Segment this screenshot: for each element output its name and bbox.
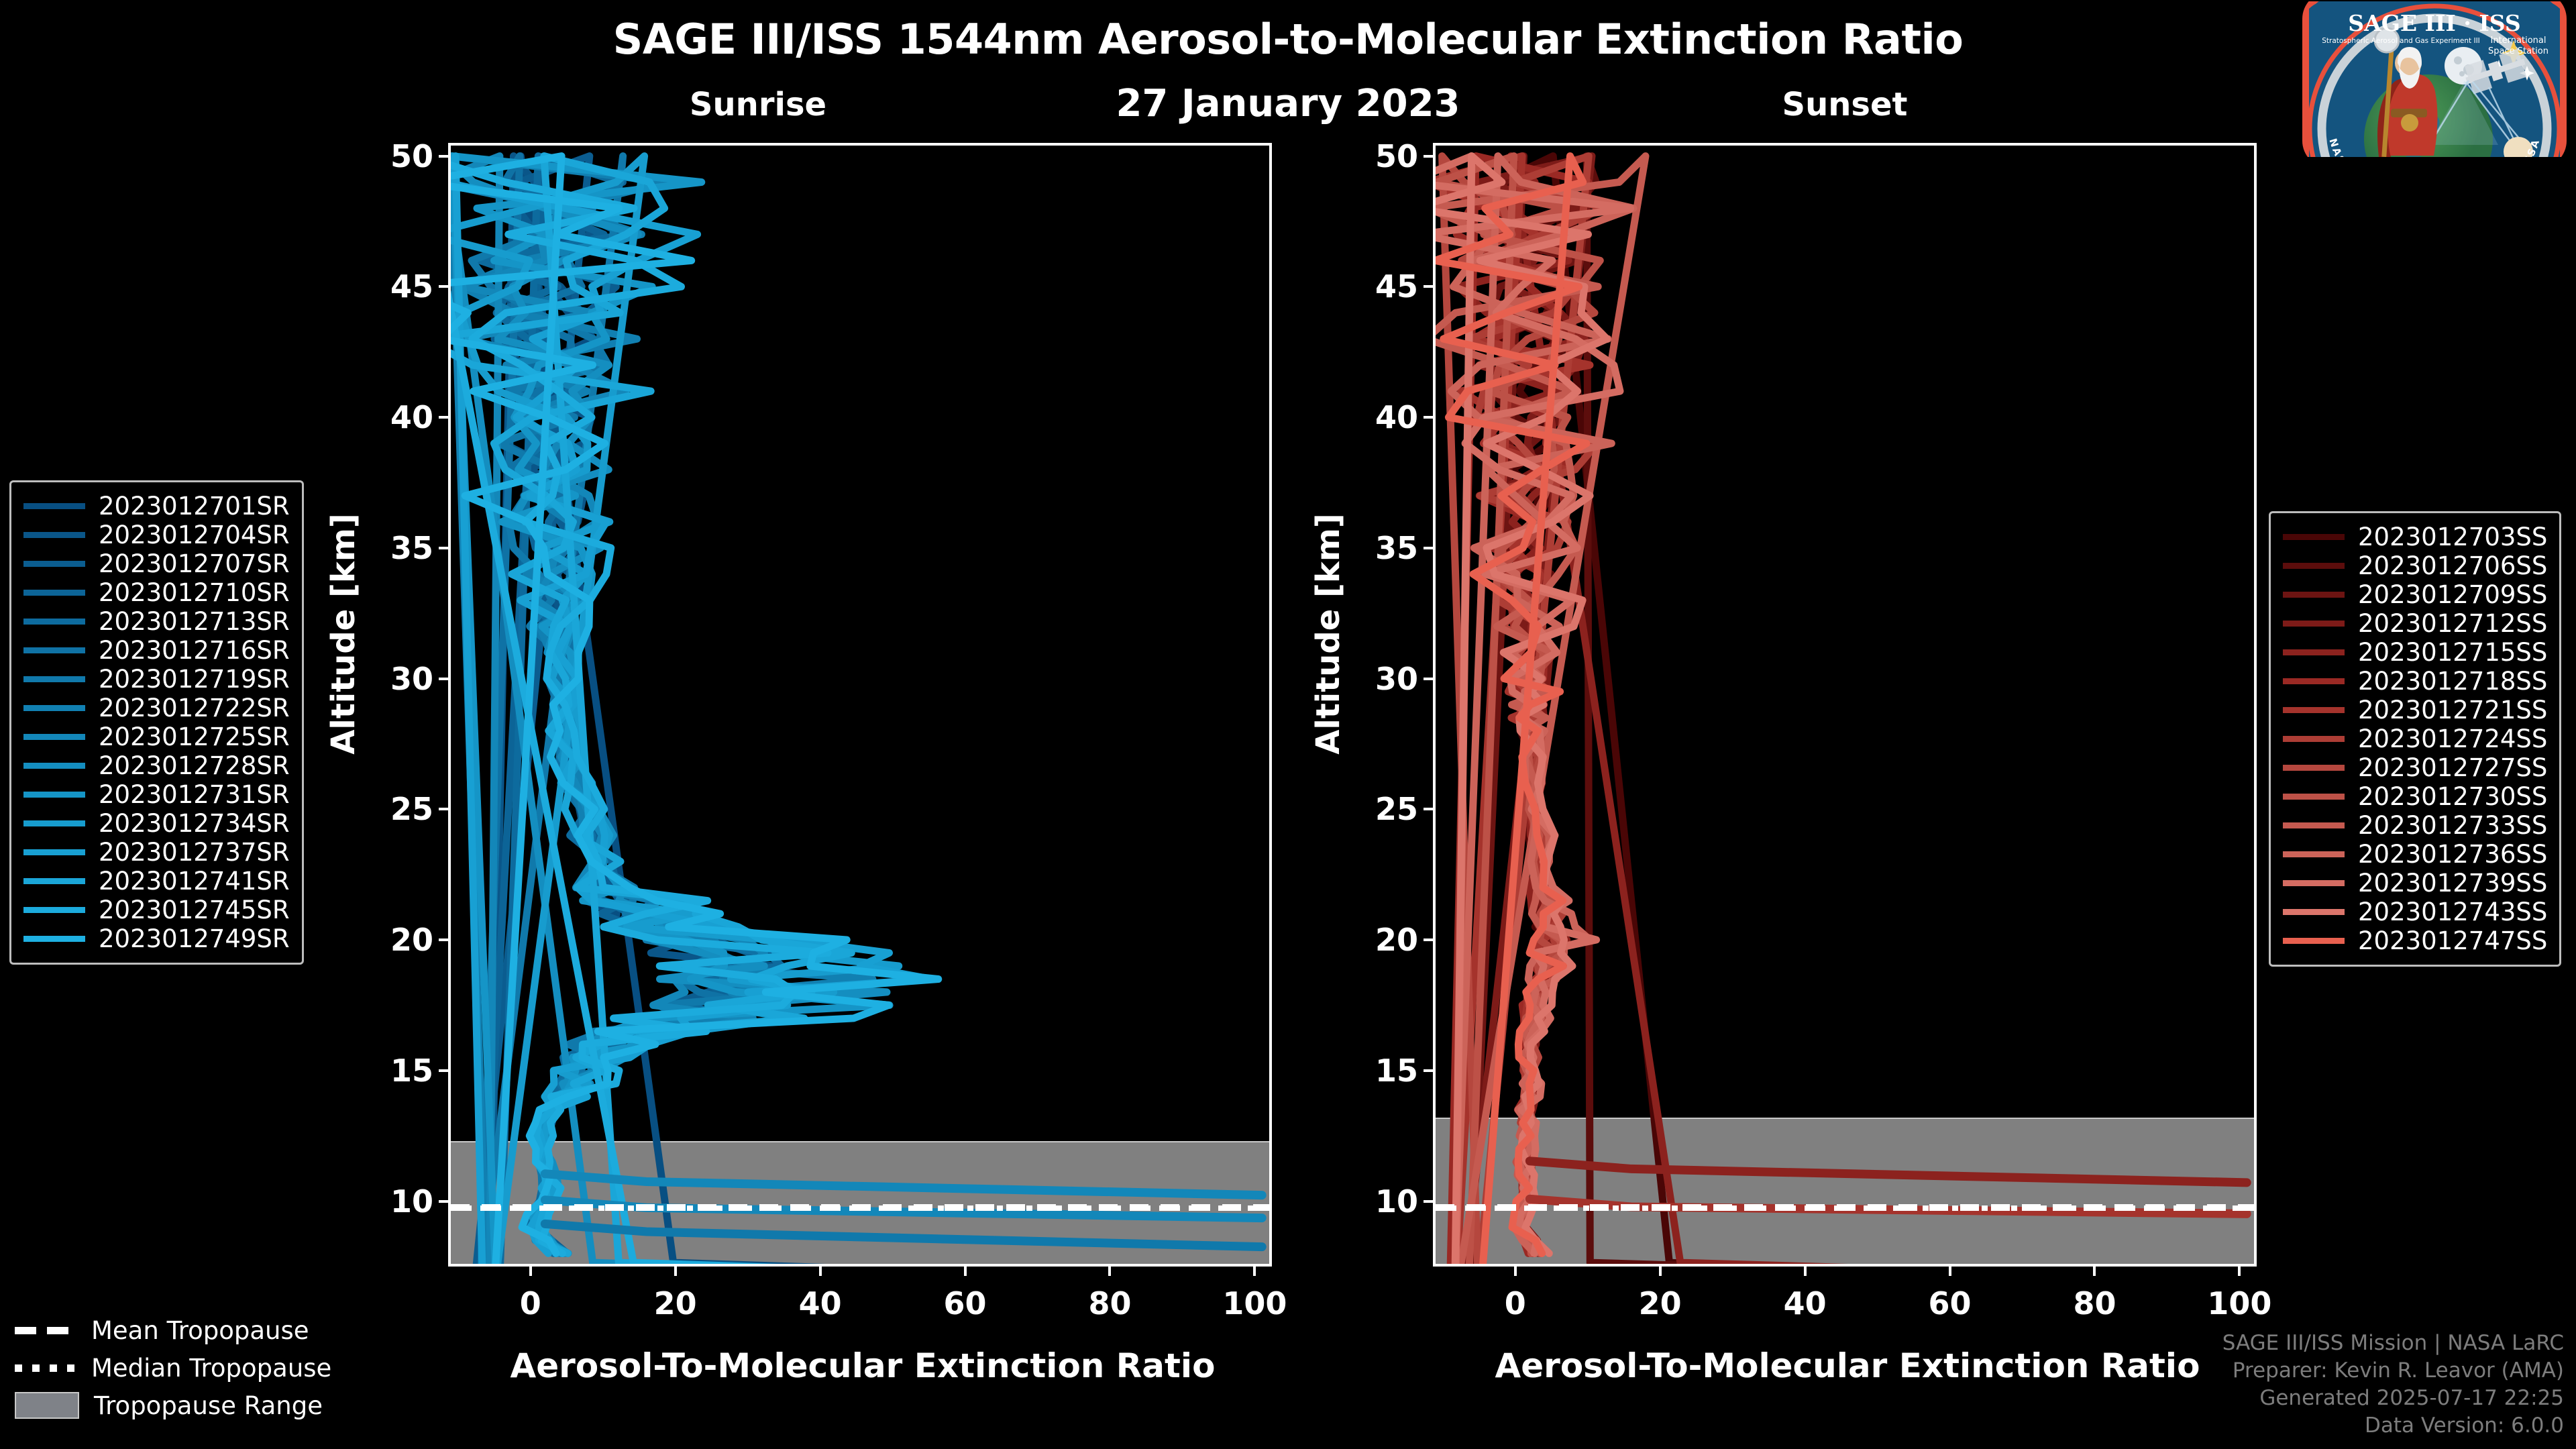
legend-color-swatch xyxy=(23,561,85,567)
legend-item-label: 2023012739SS xyxy=(2358,869,2547,898)
plot-sunrise: Altitude [km] Aerosol-To-Molecular Extin… xyxy=(448,143,1272,1267)
x-axis-tick-mark xyxy=(529,1264,532,1276)
legend-color-swatch xyxy=(2283,909,2345,915)
legend-sunrise[interactable]: 2023012701SR2023012704SR2023012707SR2023… xyxy=(9,480,304,965)
legend-item[interactable]: 2023012721SS xyxy=(2283,696,2547,724)
legend-item[interactable]: 2023012719SR xyxy=(23,665,290,694)
legend-item-median-tropopause: Median Tropopause xyxy=(15,1349,331,1387)
page-title: SAGE III/ISS 1544nm Aerosol-to-Molecular… xyxy=(0,15,2576,64)
legend-color-swatch xyxy=(2283,765,2345,771)
dashed-line-icon xyxy=(15,1327,76,1334)
legend-item[interactable]: 2023012716SR xyxy=(23,636,290,665)
legend-item-label: 2023012734SR xyxy=(99,809,290,838)
legend-item-label: 2023012716SR xyxy=(99,636,290,665)
y-axis-tick-label: 45 xyxy=(339,268,451,305)
plot-area-sunset xyxy=(1436,146,2254,1264)
y-axis-tick-mark xyxy=(1424,1069,1436,1072)
legend-item[interactable]: 2023012703SS xyxy=(2283,523,2547,551)
legend-color-swatch xyxy=(2283,649,2345,655)
y-axis-tick-mark xyxy=(1424,285,1436,288)
y-axis-tick-label: 40 xyxy=(339,399,451,435)
legend-item-label: 2023012725SR xyxy=(99,722,290,751)
legend-color-swatch xyxy=(2283,621,2345,627)
x-axis-tick-mark xyxy=(1253,1264,1256,1276)
legend-color-swatch xyxy=(23,503,85,509)
legend-item[interactable]: 2023012704SR xyxy=(23,521,290,549)
legend-item[interactable]: 2023012713SR xyxy=(23,607,290,636)
y-axis-tick-label: 30 xyxy=(339,661,451,697)
legend-item[interactable]: 2023012741SR xyxy=(23,867,290,896)
legend-item-label: 2023012736SS xyxy=(2358,840,2547,869)
legend-color-swatch xyxy=(23,763,85,769)
legend-item-label: 2023012704SR xyxy=(99,521,290,549)
y-axis-tick-label: 10 xyxy=(339,1183,451,1220)
legend-color-swatch xyxy=(23,878,85,884)
legend-item-label: 2023012719SR xyxy=(99,665,290,694)
legend-item[interactable]: 2023012730SS xyxy=(2283,782,2547,811)
logo-title: SAGE III · ISS xyxy=(2348,10,2520,36)
legend-sunset[interactable]: 2023012703SS2023012706SS2023012709SS2023… xyxy=(2269,511,2561,967)
credits-line-version: Data Version: 6.0.0 xyxy=(2222,1412,2564,1440)
x-axis-tick-mark xyxy=(2093,1264,2096,1276)
legend-color-swatch xyxy=(23,705,85,711)
y-axis-tick-label: 35 xyxy=(339,530,451,566)
legend-item[interactable]: 2023012727SS xyxy=(2283,753,2547,782)
legend-item-label: 2023012731SR xyxy=(99,780,290,809)
legend-item[interactable]: 2023012739SS xyxy=(2283,869,2547,898)
plot-area-sunrise xyxy=(451,146,1269,1264)
credits-line-mission: SAGE III/ISS Mission | NASA LaRC xyxy=(2222,1330,2564,1357)
offscale-streak xyxy=(545,1224,1262,1246)
legend-item[interactable]: 2023012707SR xyxy=(23,549,290,578)
y-axis-tick-mark xyxy=(439,678,451,680)
legend-item[interactable]: 2023012718SS xyxy=(2283,667,2547,696)
legend-item[interactable]: 2023012728SR xyxy=(23,751,290,780)
plot-sunset: Altitude [km] Aerosol-To-Molecular Extin… xyxy=(1433,143,2257,1267)
y-axis-tick-mark xyxy=(1424,547,1436,549)
legend-item[interactable]: 2023012736SS xyxy=(2283,840,2547,869)
y-axis-tick-label: 15 xyxy=(1324,1053,1436,1089)
legend-color-swatch xyxy=(23,820,85,826)
legend-item[interactable]: 2023012722SR xyxy=(23,694,290,722)
legend-item-label: 2023012707SR xyxy=(99,549,290,578)
legend-item[interactable]: 2023012712SS xyxy=(2283,609,2547,638)
y-axis-tick-label: 40 xyxy=(1324,399,1436,435)
y-axis-tick-label: 45 xyxy=(1324,268,1436,305)
legend-color-swatch xyxy=(23,532,85,538)
legend-color-swatch xyxy=(23,936,85,942)
y-axis-tick-mark xyxy=(439,1069,451,1072)
legend-item-label: 2023012706SS xyxy=(2358,551,2547,580)
legend-item[interactable]: 2023012745SR xyxy=(23,896,290,924)
legend-color-swatch xyxy=(23,792,85,798)
offscale-streak xyxy=(1529,1161,2247,1183)
legend-item-label: 2023012718SS xyxy=(2358,667,2547,696)
y-axis-tick-label: 10 xyxy=(1324,1183,1436,1220)
legend-color-swatch xyxy=(2283,678,2345,684)
legend-item[interactable]: 2023012747SS xyxy=(2283,926,2547,955)
legend-label-tropopause-range: Tropopause Range xyxy=(94,1391,323,1420)
date-title: 27 January 2023 xyxy=(0,82,2576,125)
legend-color-swatch xyxy=(2283,822,2345,828)
legend-item-label: 2023012728SR xyxy=(99,751,290,780)
profile-line xyxy=(521,156,1262,1264)
legend-item-label: 2023012733SS xyxy=(2358,811,2547,840)
legend-item[interactable]: 2023012737SR xyxy=(23,838,290,867)
x-axis-tick-mark xyxy=(1514,1264,1517,1276)
credits-line-generated: Generated 2025-07-17 22:25 xyxy=(2222,1385,2564,1412)
legend-color-swatch xyxy=(23,590,85,596)
legend-item-label: 2023012743SS xyxy=(2358,898,2547,926)
y-axis-tick-label: 20 xyxy=(339,922,451,958)
legend-item-label: 2023012724SS xyxy=(2358,724,2547,753)
profile-curves xyxy=(1436,146,2254,1264)
legend-item[interactable]: 2023012749SR xyxy=(23,924,290,953)
x-axis-tick-mark xyxy=(674,1264,677,1276)
y-axis-tick-mark xyxy=(439,285,451,288)
legend-item[interactable]: 2023012733SS xyxy=(2283,811,2547,840)
legend-item[interactable]: 2023012724SS xyxy=(2283,724,2547,753)
y-axis-tick-mark xyxy=(439,938,451,941)
legend-item-label: 2023012747SS xyxy=(2358,926,2547,955)
legend-item-label: 2023012730SS xyxy=(2358,782,2547,811)
legend-item-mean-tropopause: Mean Tropopause xyxy=(15,1311,331,1349)
y-axis-tick-label: 30 xyxy=(1324,661,1436,697)
y-axis-tick-label: 25 xyxy=(1324,791,1436,827)
legend-color-swatch xyxy=(2283,736,2345,742)
credits-line-preparer: Preparer: Kevin R. Leavor (AMA) xyxy=(2222,1357,2564,1385)
legend-item[interactable]: 2023012715SS xyxy=(2283,638,2547,667)
y-axis-tick-mark xyxy=(1424,938,1436,941)
legend-item-label: 2023012745SR xyxy=(99,896,290,924)
legend-label-median-tropopause: Median Tropopause xyxy=(91,1354,331,1383)
legend-item-label: 2023012741SR xyxy=(99,867,290,896)
filled-band-icon xyxy=(15,1392,79,1419)
legend-tropopause: Mean Tropopause Median Tropopause Tropop… xyxy=(15,1311,331,1424)
legend-item-label: 2023012710SR xyxy=(99,578,290,607)
legend-item-label: 2023012713SR xyxy=(99,607,290,636)
legend-item-label: 2023012712SS xyxy=(2358,609,2547,638)
legend-color-swatch xyxy=(23,619,85,625)
legend-item-label: 2023012715SS xyxy=(2358,638,2547,667)
legend-color-swatch xyxy=(2283,534,2345,540)
x-axis-tick-mark xyxy=(1949,1264,1951,1276)
offscale-streak xyxy=(545,1174,1262,1195)
y-axis-tick-mark xyxy=(439,155,451,158)
y-axis-tick-mark xyxy=(1424,1200,1436,1203)
legend-color-swatch xyxy=(2283,851,2345,857)
panel-title-sunset: Sunset xyxy=(1711,86,1979,123)
profile-line xyxy=(1489,156,2247,1264)
y-axis-tick-label: 50 xyxy=(339,138,451,174)
legend-item-label: 2023012749SR xyxy=(99,924,290,953)
legend-color-swatch xyxy=(23,907,85,913)
legend-color-swatch xyxy=(2283,707,2345,713)
y-axis-tick-mark xyxy=(439,1200,451,1203)
legend-color-swatch xyxy=(2283,880,2345,886)
sage3-iss-mission-patch-logo: SAGE III · ISS Stratospheric Aerosol and… xyxy=(2297,1,2572,157)
dotted-line-icon xyxy=(15,1364,76,1372)
legend-item[interactable]: 2023012701SR xyxy=(23,492,290,521)
legend-color-swatch xyxy=(23,849,85,855)
legend-color-swatch xyxy=(23,676,85,682)
legend-color-swatch xyxy=(2283,592,2345,598)
y-axis-tick-mark xyxy=(1424,678,1436,680)
legend-item[interactable]: 2023012725SR xyxy=(23,722,290,751)
logo-subtitle-right-1: International xyxy=(2491,36,2546,46)
legend-item[interactable]: 2023012743SS xyxy=(2283,898,2547,926)
legend-item-label: 2023012722SR xyxy=(99,694,290,722)
x-axis-tick-mark xyxy=(2238,1264,2241,1276)
legend-item[interactable]: 2023012709SS xyxy=(2283,580,2547,609)
y-axis-tick-mark xyxy=(1424,416,1436,419)
profile-curves xyxy=(451,146,1269,1264)
y-axis-tick-label: 15 xyxy=(339,1053,451,1089)
legend-item-tropopause-range: Tropopause Range xyxy=(15,1387,331,1424)
y-axis-tick-mark xyxy=(439,547,451,549)
y-axis-tick-label: 20 xyxy=(1324,922,1436,958)
y-axis-tick-label: 25 xyxy=(339,791,451,827)
legend-item-label: 2023012721SS xyxy=(2358,696,2547,724)
y-axis-tick-mark xyxy=(1424,155,1436,158)
x-axis-label-sunrise: Aerosol-To-Molecular Extinction Ratio xyxy=(451,1346,1275,1385)
legend-color-swatch xyxy=(2283,794,2345,800)
y-axis-tick-mark xyxy=(439,808,451,810)
median-tropopause-line xyxy=(1436,1205,2254,1211)
y-axis-tick-mark xyxy=(439,416,451,419)
x-axis-tick-mark xyxy=(819,1264,822,1276)
legend-color-swatch xyxy=(2283,563,2345,569)
legend-color-swatch xyxy=(23,734,85,740)
logo-subtitle-right-2: Space Station xyxy=(2488,46,2548,56)
legend-item[interactable]: 2023012731SR xyxy=(23,780,290,809)
logo-subtitle-left: Stratospheric Aerosol and Gas Experiment… xyxy=(2322,37,2480,45)
x-axis-tick-mark xyxy=(1804,1264,1807,1276)
x-axis-tick-mark xyxy=(1108,1264,1111,1276)
legend-item[interactable]: 2023012734SR xyxy=(23,809,290,838)
legend-item-label: 2023012737SR xyxy=(99,838,290,867)
y-axis-tick-label: 35 xyxy=(1324,530,1436,566)
legend-item[interactable]: 2023012706SS xyxy=(2283,551,2547,580)
x-axis-label-sunset: Aerosol-To-Molecular Extinction Ratio xyxy=(1436,1346,2259,1385)
legend-item-label: 2023012727SS xyxy=(2358,753,2547,782)
credits-block: SAGE III/ISS Mission | NASA LaRC Prepare… xyxy=(2222,1330,2564,1440)
mission-patch-svg: SAGE III · ISS Stratospheric Aerosol and… xyxy=(2297,1,2572,157)
x-axis-tick-mark xyxy=(1659,1264,1662,1276)
profile-line xyxy=(1498,156,2247,1264)
y-axis-tick-label: 50 xyxy=(1324,138,1436,174)
legend-color-swatch xyxy=(2283,938,2345,944)
x-axis-tick-mark xyxy=(964,1264,967,1276)
legend-label-mean-tropopause: Mean Tropopause xyxy=(91,1316,309,1345)
legend-item-label: 2023012703SS xyxy=(2358,523,2547,551)
y-axis-tick-mark xyxy=(1424,808,1436,810)
panel-title-sunrise: Sunrise xyxy=(624,86,892,123)
legend-item-label: 2023012701SR xyxy=(99,492,290,521)
median-tropopause-line xyxy=(451,1205,1269,1211)
legend-color-swatch xyxy=(23,647,85,653)
legend-item-label: 2023012709SS xyxy=(2358,580,2547,609)
legend-item[interactable]: 2023012710SR xyxy=(23,578,290,607)
